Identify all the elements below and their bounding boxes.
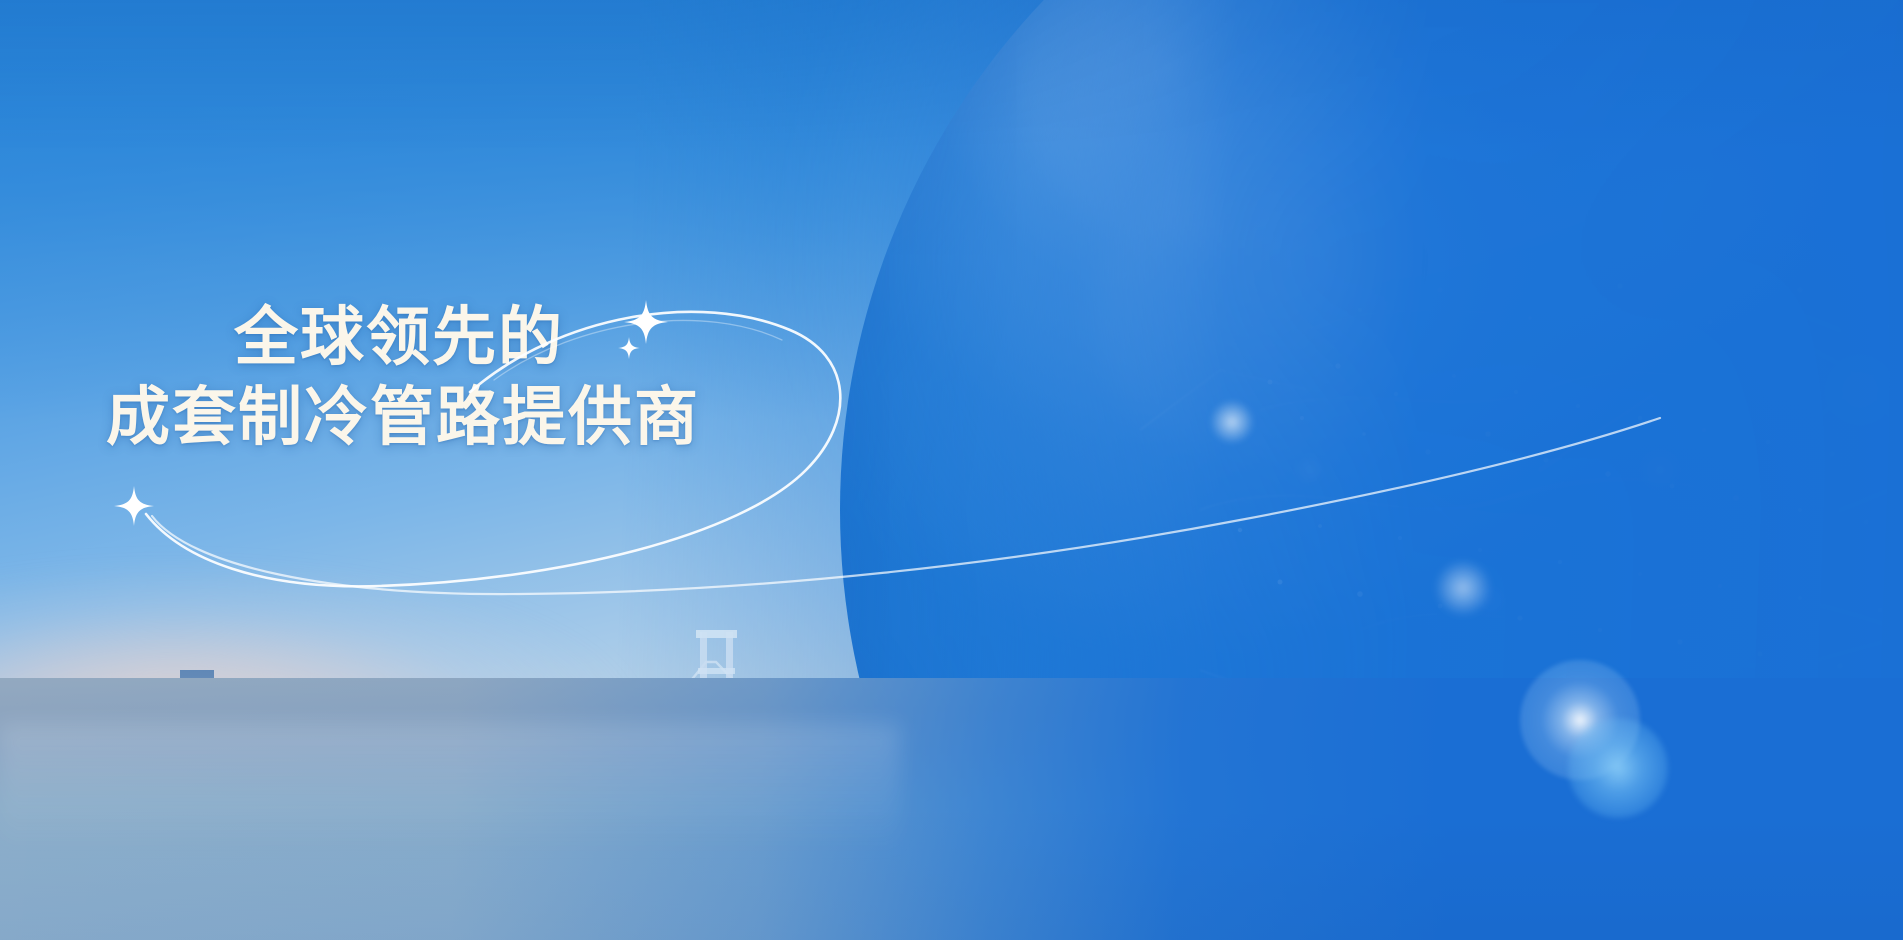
headline-line-2: 成套制冷管路提供商 bbox=[106, 380, 746, 454]
hero-banner: 全球领先的 成套制冷管路提供商 bbox=[0, 0, 1903, 940]
hero-headline: 全球领先的 成套制冷管路提供商 bbox=[106, 300, 746, 454]
headline-line-1: 全球领先的 bbox=[106, 300, 746, 374]
sea-surface-shimmer bbox=[0, 724, 900, 854]
